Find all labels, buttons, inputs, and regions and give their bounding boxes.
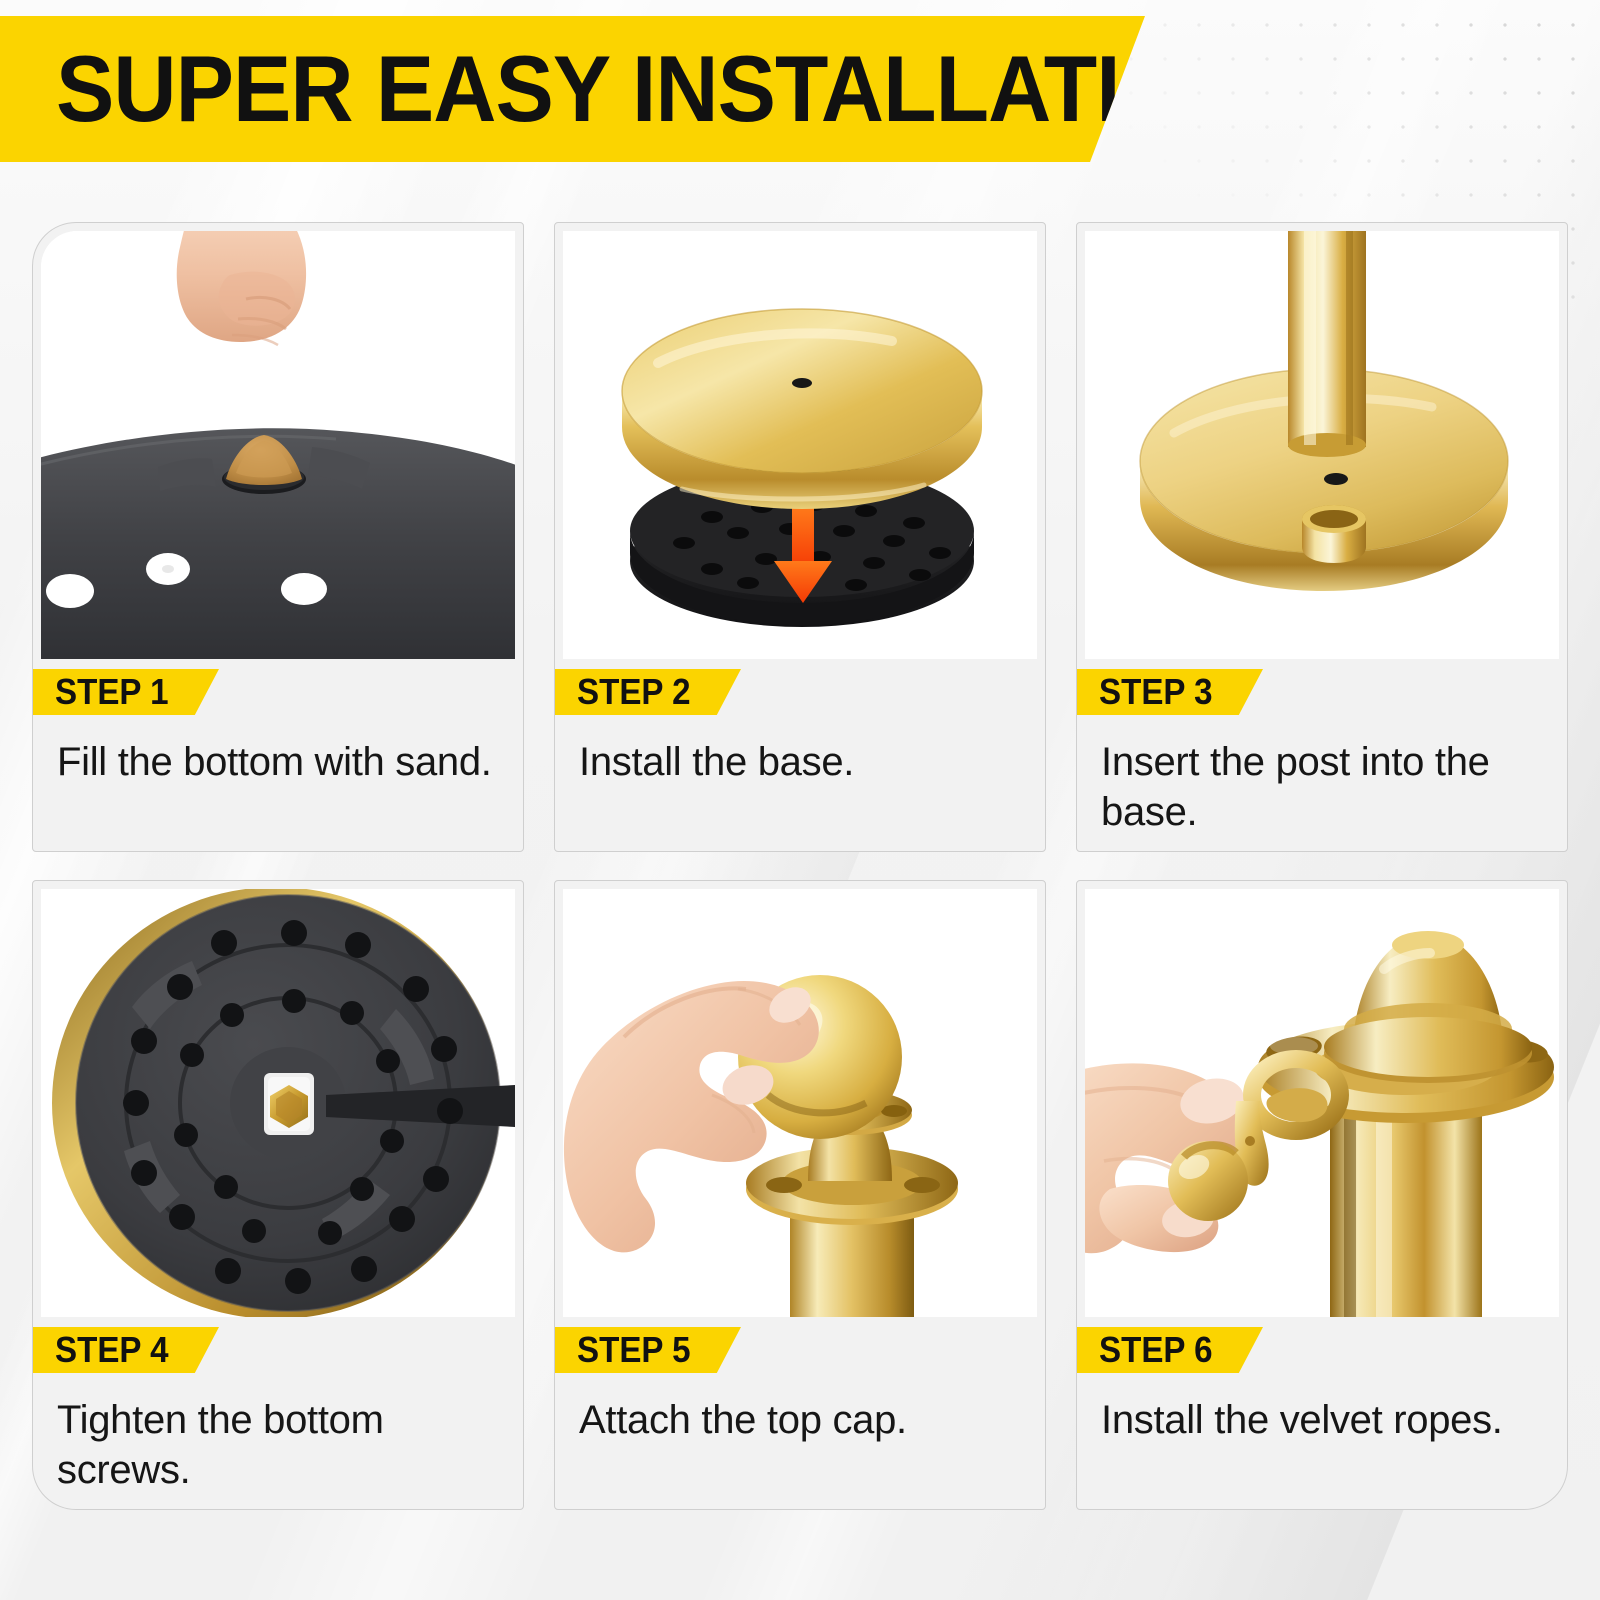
- hand-clipping-snap-hook-illustration: [1085, 889, 1559, 1317]
- step-4-tag-label: STEP 4: [55, 1329, 169, 1371]
- title-banner: SUPER EASY INSTALLATION: [0, 16, 1145, 162]
- step-4-tag: STEP 4: [33, 1327, 219, 1373]
- base-underside-screw-illustration: [41, 889, 515, 1317]
- step-3-photo: [1085, 231, 1559, 659]
- step-5-caption: Attach the top cap.: [555, 1373, 1045, 1445]
- step-4-caption: Tighten the bottom screws.: [33, 1373, 523, 1496]
- step-card-1: STEP 1 Fill the bottom with sand.: [32, 222, 524, 852]
- steps-grid: STEP 1 Fill the bottom with sand.: [32, 222, 1568, 1510]
- step-card-5: STEP 5 Attach the top cap.: [554, 880, 1046, 1510]
- step-3-tag: STEP 3: [1077, 669, 1263, 715]
- step-3-tag-label: STEP 3: [1099, 671, 1213, 713]
- step-card-6: STEP 6 Install the velvet ropes.: [1076, 880, 1568, 1510]
- hand-pouring-sand-illustration: [41, 231, 515, 659]
- step-5-tag-label: STEP 5: [577, 1329, 691, 1371]
- step-2-photo: [563, 231, 1037, 659]
- step-6-caption: Install the velvet ropes.: [1077, 1373, 1567, 1445]
- step-4-photo: [41, 889, 515, 1317]
- step-1-caption: Fill the bottom with sand.: [33, 715, 523, 787]
- step-card-4: STEP 4 Tighten the bottom screws.: [32, 880, 524, 1510]
- step-1-tag: STEP 1: [33, 669, 219, 715]
- step-6-tag-label: STEP 6: [1099, 1329, 1213, 1371]
- step-2-tag: STEP 2: [555, 669, 741, 715]
- step-1-photo: [41, 231, 515, 659]
- step-2-tag-label: STEP 2: [577, 671, 691, 713]
- step-6-tag: STEP 6: [1077, 1327, 1263, 1373]
- step-6-photo: [1085, 889, 1559, 1317]
- step-5-photo: [563, 889, 1037, 1317]
- gold-disc-onto-base-illustration: [563, 231, 1037, 659]
- page-title: SUPER EASY INSTALLATION: [56, 42, 1249, 136]
- step-1-tag-label: STEP 1: [55, 671, 169, 713]
- step-card-2: STEP 2 Install the base.: [554, 222, 1046, 852]
- step-card-3: STEP 3 Insert the post into the base.: [1076, 222, 1568, 852]
- step-5-tag: STEP 5: [555, 1327, 741, 1373]
- step-3-caption: Insert the post into the base.: [1077, 715, 1567, 838]
- step-2-caption: Install the base.: [555, 715, 1045, 787]
- post-inserted-into-base-illustration: [1085, 231, 1559, 659]
- hand-attaching-top-cap-illustration: [563, 889, 1037, 1317]
